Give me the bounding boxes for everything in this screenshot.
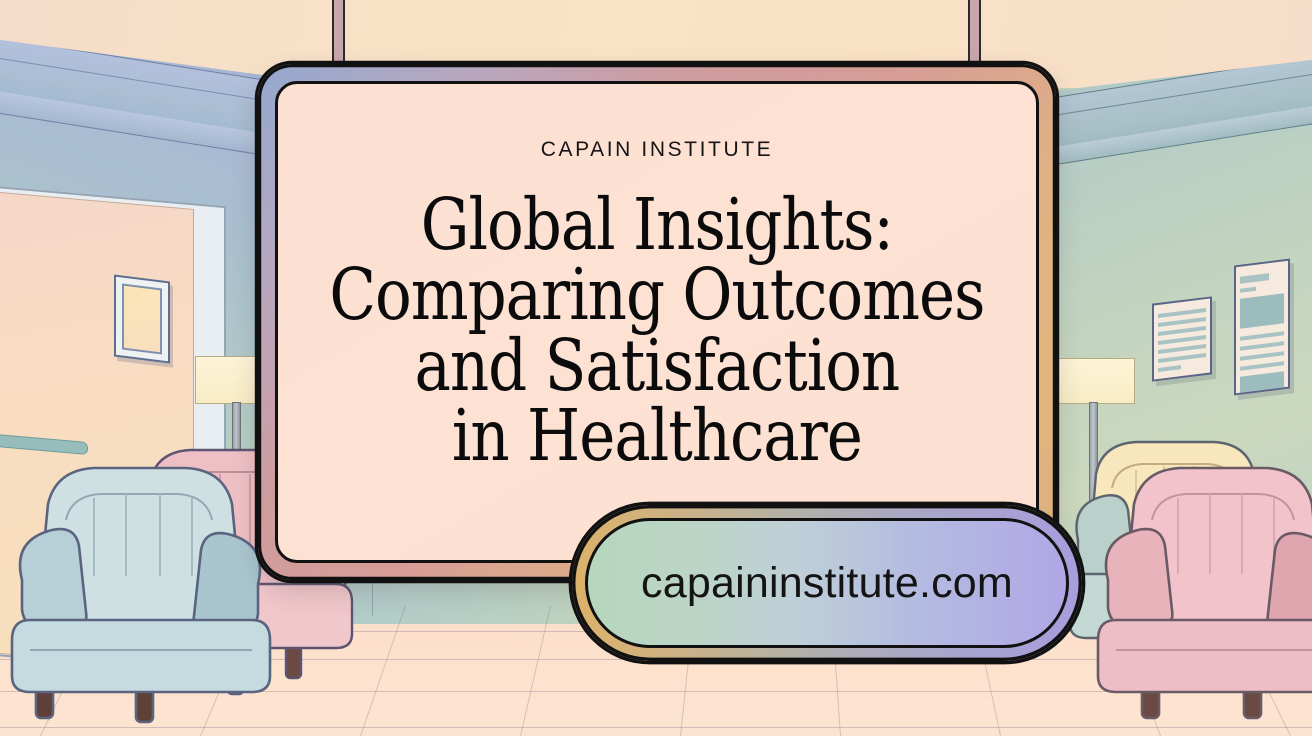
website-url-pill[interactable]: capaininstitute.com (572, 505, 1082, 661)
poster-right-wall-tall (1234, 259, 1290, 396)
scene-root: CAPAIN INSTITUTE Global Insights: Compar… (0, 0, 1312, 736)
website-url-pill-inner: capaininstitute.com (585, 518, 1069, 648)
headline-line-1: Global Insights: (329, 190, 984, 260)
page-title: Global Insights: Comparing Outcomes and … (329, 190, 984, 471)
poster-right-wall-small (1152, 296, 1212, 381)
chair-right-front (1086, 450, 1312, 725)
floor-lamp-right-shade (1057, 358, 1135, 404)
title-board-inner: CAPAIN INSTITUTE Global Insights: Compar… (275, 81, 1039, 563)
chair-left-front (0, 452, 286, 727)
suspension-rod-right (968, 0, 981, 70)
website-url-text: capaininstitute.com (641, 559, 1013, 608)
picture-matte (122, 284, 162, 355)
title-board: CAPAIN INSTITUTE Global Insights: Compar… (258, 64, 1056, 580)
suspension-rod-left (332, 0, 345, 70)
headline-line-2: Comparing Outcomes (329, 260, 984, 330)
headline-line-3: and Satisfaction (329, 331, 984, 401)
framed-picture-left-wall (114, 275, 170, 364)
organization-eyebrow: CAPAIN INSTITUTE (541, 138, 774, 162)
headline-line-4: in Healthcare (329, 401, 984, 471)
